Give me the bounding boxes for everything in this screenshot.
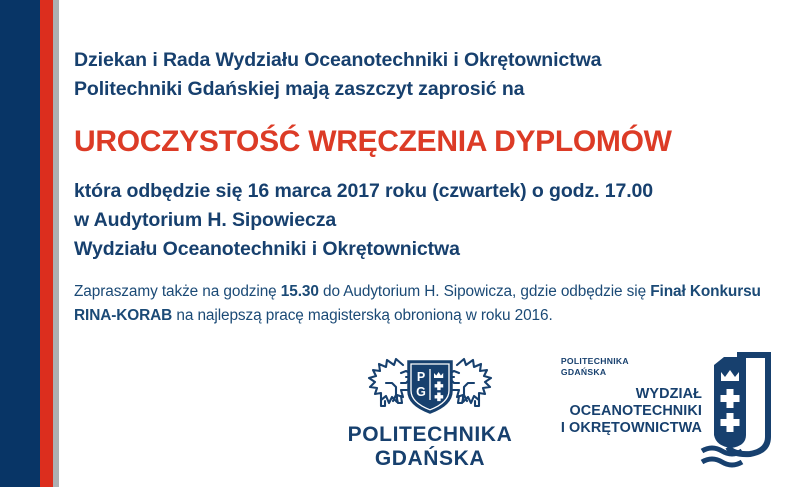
details-line-1: która odbędzie się 16 marca 2017 roku (c… [74, 177, 774, 206]
details-text: która odbędzie się 16 marca 2017 roku (c… [74, 177, 774, 264]
faculty-univ-line-2: GDAŃSKA [561, 367, 702, 378]
invitation-poster: Dziekan i Rada Wydziału Oceanotechniki i… [0, 0, 800, 487]
intro-line-2: Politechniki Gdańskiej mają zaszczyt zap… [74, 75, 774, 104]
details-line-3: Wydziału Oceanotechniki i Okrętownictwa [74, 235, 774, 264]
pg-wordmark: POLITECHNIKA GDAŃSKA [340, 423, 520, 471]
note-part-3: na najlepszą pracę magisterską obronioną… [172, 307, 552, 324]
pg-lions-shield-emblem: P G [340, 353, 520, 419]
faculty-logo: POLITECHNIKA GDAŃSKA WYDZIAŁ OCEANOTECHN… [522, 356, 772, 476]
faculty-univ-name: POLITECHNIKA GDAŃSKA [561, 356, 702, 377]
note-part-1: Zapraszamy także na godzinę [74, 283, 281, 300]
content-column: Dziekan i Rada Wydziału Oceanotechniki i… [74, 0, 786, 487]
faculty-name: WYDZIAŁ OCEANOTECHNIKI I OKRĘTOWNICTWA [561, 386, 702, 437]
faculty-logo-text: POLITECHNIKA GDAŃSKA WYDZIAŁ OCEANOTECHN… [561, 356, 702, 437]
intro-text: Dziekan i Rada Wydziału Oceanotechniki i… [74, 46, 774, 104]
svg-text:P: P [417, 370, 425, 384]
headline: UROCZYSTOŚĆ WRĘCZENIA DYPLOMÓW [74, 124, 774, 160]
logos-row: P G POLITECHNIKA GDAŃSKA [74, 348, 786, 478]
note-part-2: do Audytorium H. Sipowicza, gdzie odbędz… [319, 283, 650, 300]
pg-wordmark-line-2: GDAŃSKA [340, 447, 520, 471]
note-text: Zapraszamy także na godzinę 15.30 do Aud… [74, 280, 786, 328]
navy-bar [0, 0, 40, 487]
faculty-univ-line-1: POLITECHNIKA [561, 356, 702, 367]
faculty-line-2: OCEANOTECHNIKI [561, 403, 702, 420]
intro-line-1: Dziekan i Rada Wydziału Oceanotechniki i… [74, 46, 774, 75]
details-line-2: w Audytorium H. Sipowiecza [74, 206, 774, 235]
faculty-line-3: I OKRĘTOWNICTWA [561, 420, 702, 437]
svg-text:G: G [416, 385, 426, 399]
red-bar [40, 0, 53, 487]
politechnika-gdanska-logo: P G POLITECHNIKA GDAŃSKA [340, 353, 520, 471]
gray-bar [53, 0, 59, 487]
faculty-line-1: WYDZIAŁ [561, 386, 702, 403]
gdansk-coat-of-arms-ship-emblem [700, 351, 772, 469]
pg-wordmark-line-1: POLITECHNIKA [340, 423, 520, 447]
note-contest-time: 15.30 [281, 283, 319, 300]
